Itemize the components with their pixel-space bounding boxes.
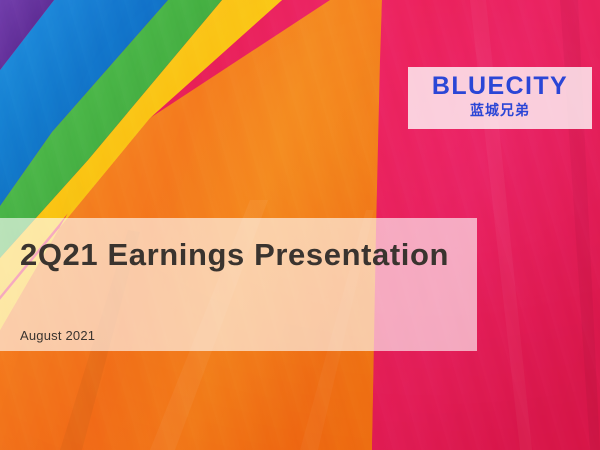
bluecity-wordmark: BLUECITY — [408, 71, 592, 101]
bluecity-chinese-name: 蓝城兄弟 — [408, 101, 592, 120]
page-title: 2Q21 Earnings Presentation — [20, 237, 449, 273]
presentation-title-slide: BLUECITY 蓝城兄弟 2Q21 Earnings Presentation… — [0, 0, 600, 450]
presentation-date: August 2021 — [20, 328, 95, 343]
bluecity-logo-panel: BLUECITY 蓝城兄弟 — [408, 67, 592, 129]
